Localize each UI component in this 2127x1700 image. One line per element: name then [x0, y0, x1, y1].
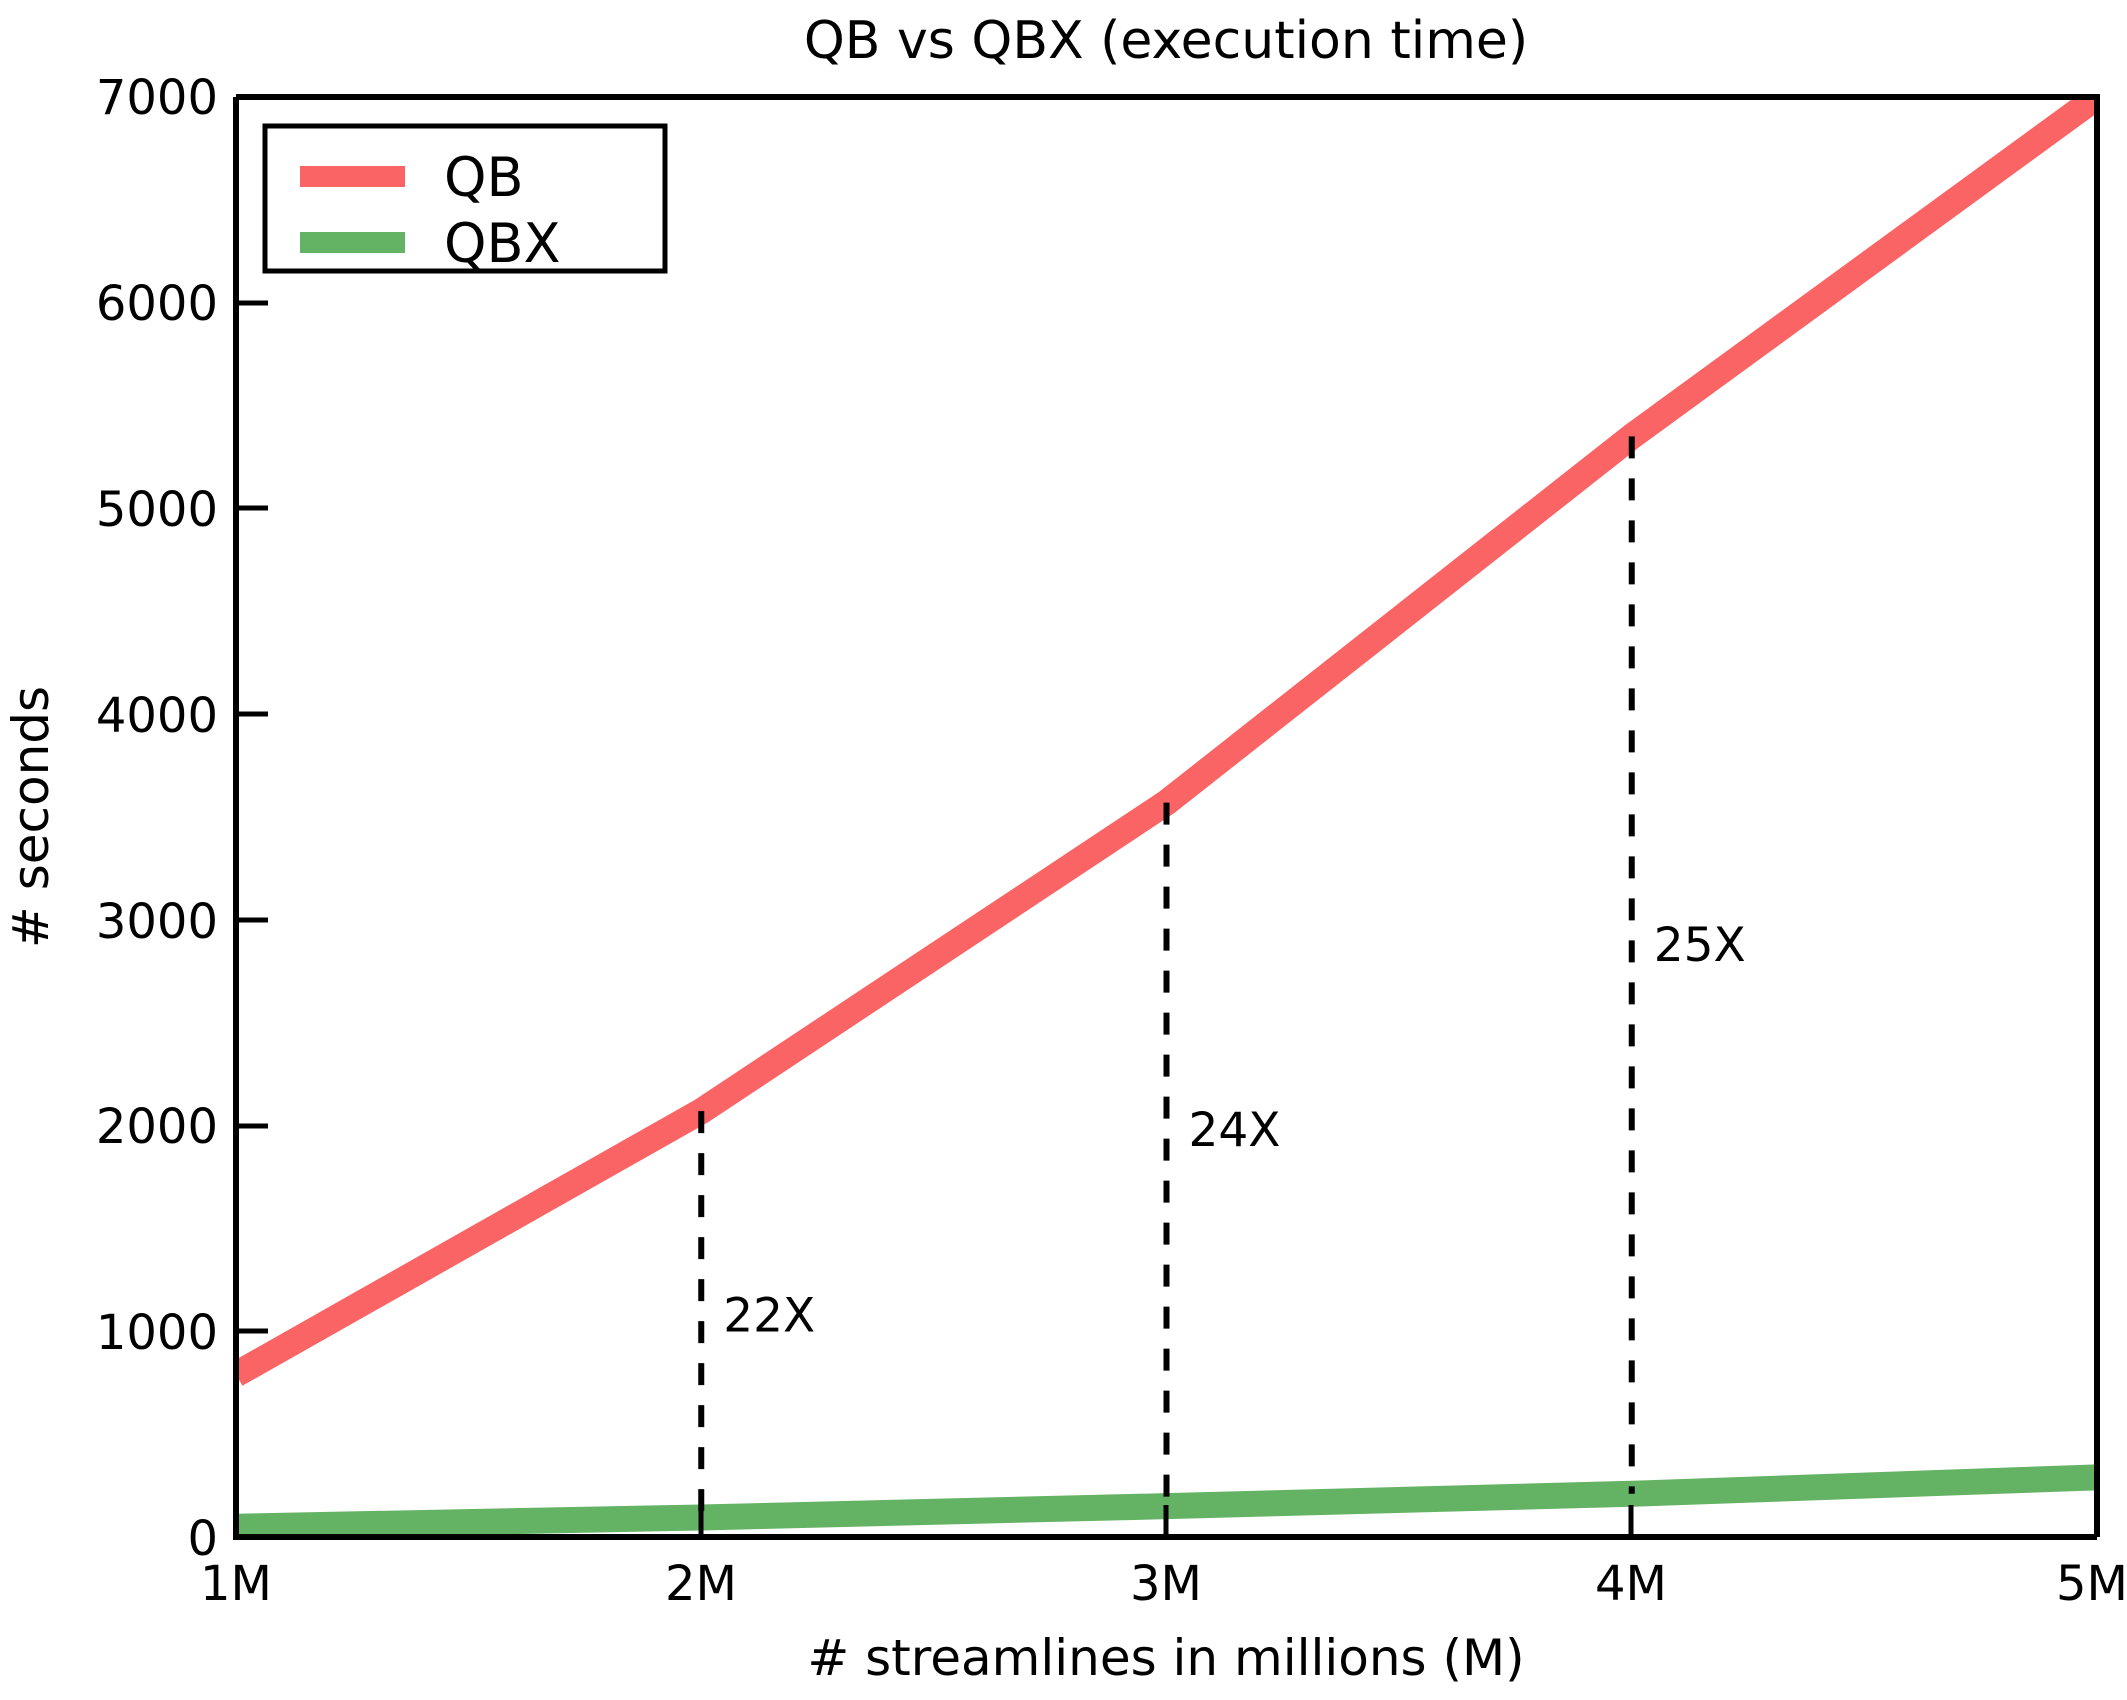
y-tick-label-2000: 2000	[96, 1099, 218, 1155]
x-tick-label-2m: 2M	[665, 1556, 737, 1612]
y-tick-label-4000: 4000	[96, 688, 218, 744]
legend-label-qb: QB	[444, 146, 524, 209]
y-tick-label-3000: 3000	[96, 894, 218, 950]
x-tick-label-1m: 1M	[200, 1556, 272, 1612]
legend-swatch-qbx	[300, 232, 405, 253]
y-tick-label-7000: 7000	[96, 70, 218, 126]
x-axis-label: # streamlines in millions (M)	[807, 1629, 1524, 1687]
annotation-label-25x: 25X	[1654, 918, 1746, 973]
x-tick-label-5m: 5M	[2056, 1556, 2127, 1612]
annotation-label-24x: 24X	[1189, 1103, 1281, 1158]
y-tick-label-6000: 6000	[96, 276, 218, 332]
chart-figure: QB vs QBX (execution time) 22X 24X 25X	[0, 0, 2127, 1700]
chart-canvas: QB vs QBX (execution time) 22X 24X 25X	[0, 0, 2127, 1700]
chart-title: QB vs QBX (execution time)	[804, 11, 1528, 71]
annotation-label-22x: 22X	[723, 1288, 815, 1343]
y-tick-label-5000: 5000	[96, 482, 218, 538]
chart-legend: QB QBX	[265, 126, 665, 275]
x-tick-label-4m: 4M	[1595, 1556, 1667, 1612]
legend-label-qbx: QBX	[444, 212, 561, 275]
x-tick-label-3m: 3M	[1130, 1556, 1202, 1612]
y-axis-label: # seconds	[2, 686, 60, 948]
y-tick-label-1000: 1000	[96, 1305, 218, 1361]
legend-swatch-qb	[300, 166, 405, 187]
